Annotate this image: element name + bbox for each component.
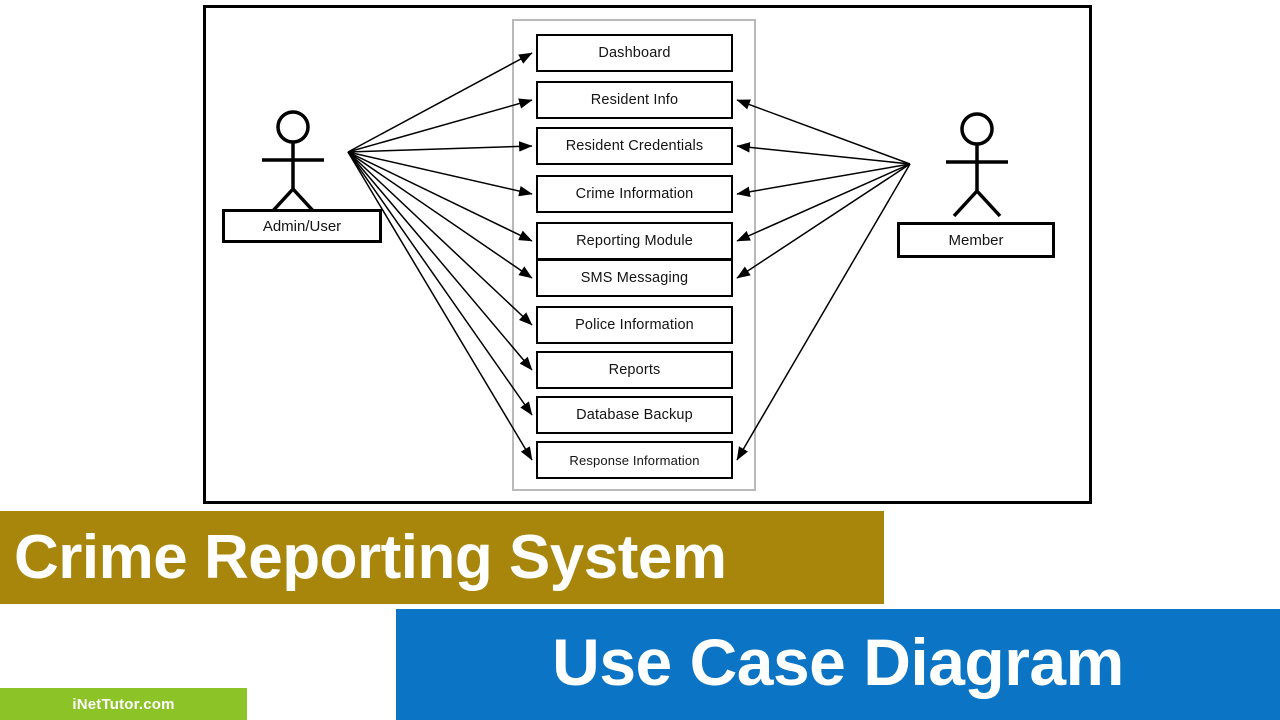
actor-member[interactable]: Member	[897, 108, 1057, 258]
usecase-response-information[interactable]: Response Information	[536, 441, 733, 479]
usecase-database-backup[interactable]: Database Backup	[536, 396, 733, 434]
actor-admin-user-label: Admin/User	[222, 209, 382, 243]
stick-figure-icon	[222, 108, 384, 218]
brand-watermark-bar: iNetTutor.com	[0, 688, 247, 720]
usecase-reporting-module[interactable]: Reporting Module	[536, 222, 733, 260]
title-banner: Crime Reporting System	[0, 511, 884, 604]
screenshot-canvas: Dashboard Resident Info Resident Credent…	[0, 0, 1280, 720]
subtitle-banner: Use Case Diagram	[396, 609, 1280, 720]
title-banner-text: Crime Reporting System	[14, 527, 727, 589]
usecase-resident-credentials[interactable]: Resident Credentials	[536, 127, 733, 165]
usecase-police-information[interactable]: Police Information	[536, 306, 733, 344]
actor-member-label: Member	[897, 222, 1055, 258]
usecase-dashboard[interactable]: Dashboard	[536, 34, 733, 72]
brand-watermark-text: iNetTutor.com	[72, 696, 174, 713]
actor-admin-user[interactable]: Admin/User	[222, 108, 384, 244]
subtitle-banner-text: Use Case Diagram	[552, 629, 1124, 695]
usecase-reports[interactable]: Reports	[536, 351, 733, 389]
usecase-resident-info[interactable]: Resident Info	[536, 81, 733, 119]
usecase-crime-information[interactable]: Crime Information	[536, 175, 733, 213]
usecase-sms-messaging[interactable]: SMS Messaging	[536, 259, 733, 297]
stick-figure-icon	[897, 108, 1057, 222]
